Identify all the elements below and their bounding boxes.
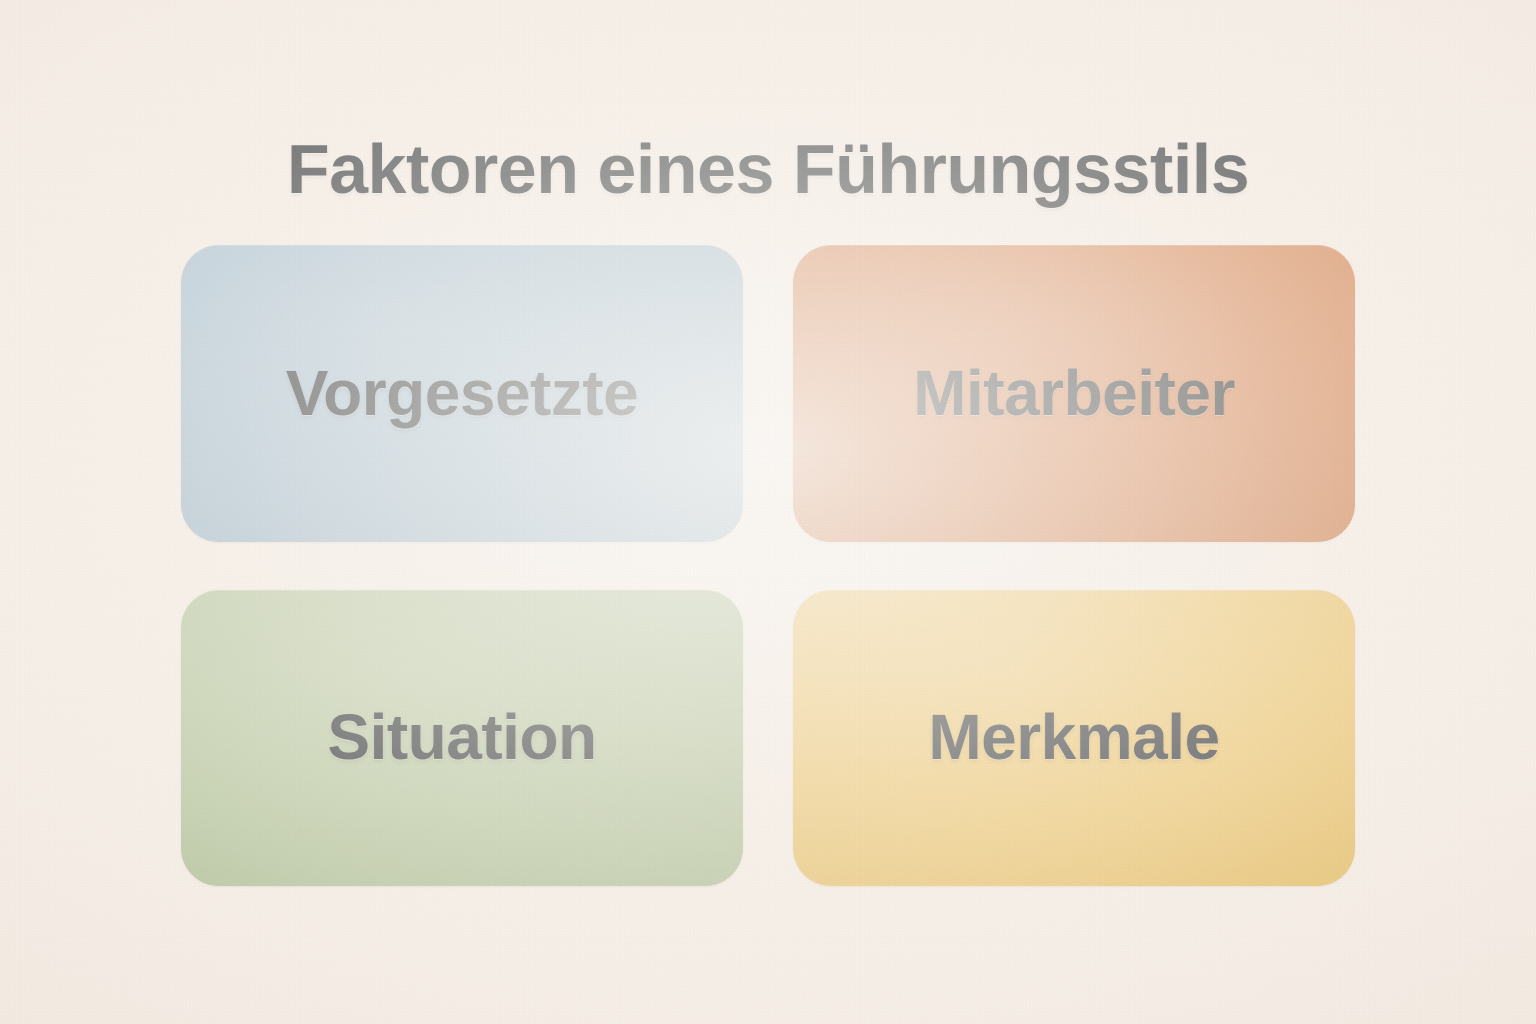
factor-card-label: Merkmale [928, 704, 1219, 771]
factor-card-grid: Vorgesetzte Mitarbeiter Situation Merkma… [181, 245, 1355, 886]
diagram-canvas: Faktoren eines Führungsstils Vorgesetzte… [0, 0, 1536, 1024]
page-title: Faktoren eines Führungsstils [0, 132, 1536, 208]
factor-card-label: Mitarbeiter [913, 360, 1235, 427]
factor-card-vorgesetzte[interactable]: Vorgesetzte [181, 245, 743, 542]
factor-card-label: Situation [327, 704, 596, 771]
factor-card-merkmale[interactable]: Merkmale [793, 590, 1355, 886]
factor-card-label: Vorgesetzte [286, 360, 639, 427]
factor-card-situation[interactable]: Situation [181, 590, 743, 886]
factor-card-mitarbeiter[interactable]: Mitarbeiter [793, 245, 1355, 542]
